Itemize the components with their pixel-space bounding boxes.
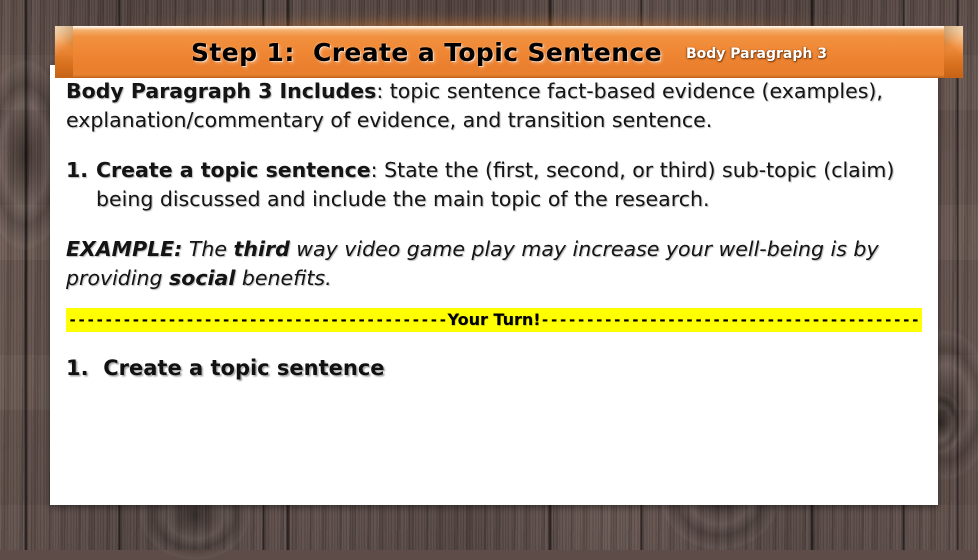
example-label: EXAMPLE: (66, 237, 182, 261)
example-emphasis-social: social (169, 266, 235, 290)
step-number: 1. (66, 156, 96, 185)
spacer-1 (66, 134, 922, 156)
example-part-1: The (182, 237, 233, 261)
prompt-line: 1. Create a topic sentence (66, 354, 922, 382)
intro-lead: Body Paragraph 3 Includes (66, 79, 376, 103)
divider-dashes-left: ----------------------------------------… (66, 308, 447, 332)
step-item: 1. Create a topic sentence: State the (f… (66, 156, 922, 213)
example-paragraph: EXAMPLE: The third way video game play m… (66, 235, 922, 292)
your-turn-label: Your Turn! (447, 308, 540, 332)
slide-container: Step 1: Create a Topic Sentence Body Par… (42, 20, 938, 506)
example-part-3: benefits. (235, 266, 331, 290)
prompt-text: Create a topic sentence (103, 356, 384, 380)
step-body: Create a topic sentence: State the (firs… (96, 156, 922, 213)
step-lead: Create a topic sentence (96, 158, 371, 182)
your-turn-divider: ----------------------------------------… (66, 308, 922, 332)
spacer-2 (66, 213, 922, 235)
intro-paragraph: Body Paragraph 3 Includes: topic sentenc… (66, 77, 922, 134)
banner-right-bevel (944, 26, 963, 78)
prompt-number: 1. (66, 356, 89, 380)
example-emphasis-third: third (234, 237, 290, 261)
prompt-spacer (89, 356, 104, 380)
divider-dashes-right: ----------------------------------------… (541, 308, 922, 332)
slide-body: Body Paragraph 3 Includes: topic sentenc… (50, 65, 938, 505)
